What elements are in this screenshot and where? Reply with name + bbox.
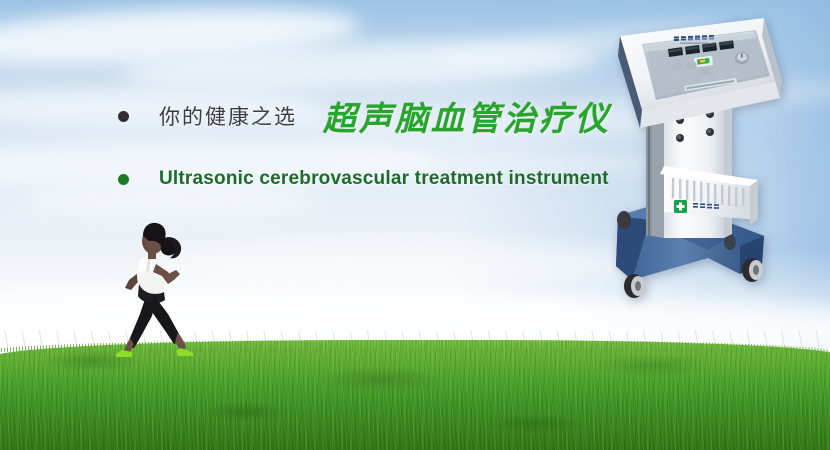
promo-banner: 你的健康之选 超声脑血管治疗仪 Ultrasonic cerebrovascul… bbox=[0, 0, 830, 450]
title-chinese: 超声脑血管治疗仪 bbox=[323, 92, 611, 140]
medical-device-illustration bbox=[612, 14, 802, 310]
panel-knob bbox=[735, 52, 749, 64]
cloud-wisp bbox=[20, 186, 320, 216]
subtitle-chinese: 你的健康之选 bbox=[159, 101, 297, 131]
bullet-dot-dark-icon bbox=[118, 111, 129, 122]
jogging-woman-icon bbox=[96, 214, 206, 358]
title-english: Ultrasonic cerebrovascular treatment ins… bbox=[159, 168, 609, 190]
green-cross-logo-icon bbox=[674, 200, 687, 213]
device-console bbox=[618, 18, 782, 128]
headline-row-chinese: 你的健康之选 超声脑血管治疗仪 bbox=[118, 92, 611, 140]
bullet-dot-green-icon bbox=[118, 174, 129, 185]
headline-row-english: Ultrasonic cerebrovascular treatment ins… bbox=[118, 168, 609, 190]
